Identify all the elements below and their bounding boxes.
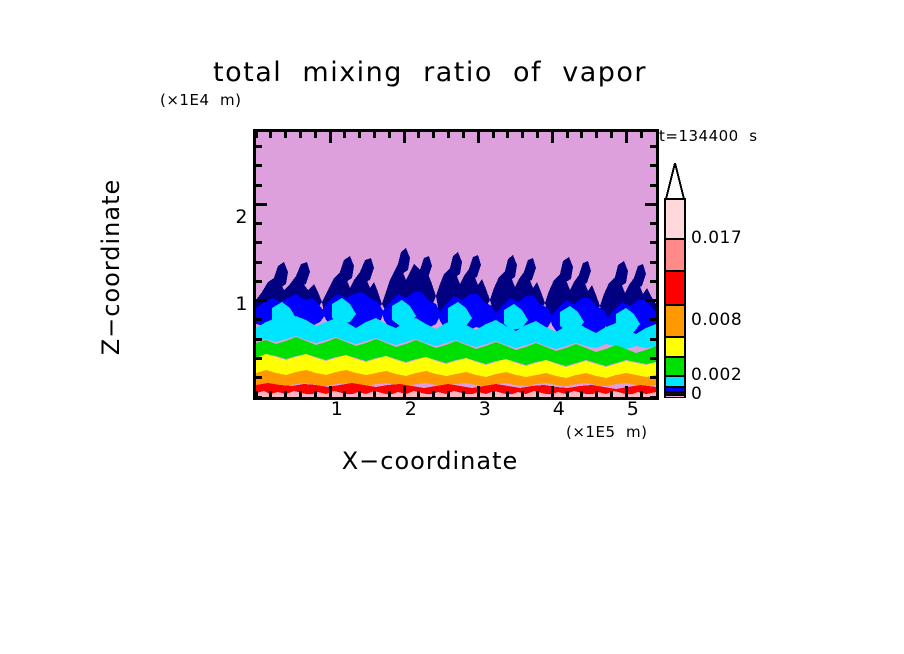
- x-minor-tick: [580, 391, 583, 397]
- y-axis-units-label: (×1E4 m): [160, 91, 242, 109]
- x-minor-tick: [373, 391, 376, 397]
- x-minor-tick: [299, 391, 302, 397]
- y-minor-tick: [650, 222, 656, 225]
- x-minor-tick: [299, 132, 302, 138]
- plot-frame: [253, 129, 659, 400]
- x-minor-tick: [269, 132, 272, 138]
- x-minor-tick: [269, 391, 272, 397]
- x-major-tick: [477, 386, 480, 397]
- x-tick-label: 2: [391, 398, 431, 420]
- y-minor-tick: [256, 222, 262, 225]
- x-major-tick: [403, 132, 406, 143]
- y-axis-title: Z−coordinate: [97, 152, 125, 382]
- y-minor-tick: [650, 164, 656, 167]
- y-minor-tick: [650, 241, 656, 244]
- x-minor-tick: [580, 132, 583, 138]
- y-minor-tick: [256, 164, 262, 167]
- y-tick-label: 2: [218, 206, 248, 228]
- y-major-tick: [645, 203, 656, 206]
- y-minor-tick: [650, 318, 656, 321]
- x-minor-tick: [447, 132, 450, 138]
- x-axis-title: X−coordinate: [0, 447, 904, 475]
- x-major-tick: [551, 132, 554, 143]
- x-major-tick: [625, 132, 628, 143]
- x-major-tick: [477, 132, 480, 143]
- y-minor-tick: [650, 376, 656, 379]
- x-minor-tick: [358, 132, 361, 138]
- x-tick-label: 4: [539, 398, 579, 420]
- y-minor-tick: [650, 280, 656, 283]
- y-minor-tick: [256, 396, 262, 399]
- x-minor-tick: [492, 132, 495, 138]
- x-minor-tick: [417, 391, 420, 397]
- x-minor-tick: [462, 132, 465, 138]
- x-major-tick: [403, 386, 406, 397]
- colorbar-label: 0.008: [691, 310, 742, 330]
- x-minor-tick: [284, 391, 287, 397]
- y-major-tick: [645, 299, 656, 302]
- x-minor-tick: [595, 132, 598, 138]
- y-minor-tick: [650, 145, 656, 148]
- y-minor-tick: [256, 145, 262, 148]
- x-minor-tick: [640, 132, 643, 138]
- page-title: total mixing ratio of vapor: [0, 57, 904, 88]
- y-major-tick: [256, 299, 267, 302]
- x-minor-tick: [432, 132, 435, 138]
- x-minor-tick: [610, 391, 613, 397]
- x-minor-tick: [432, 391, 435, 397]
- x-minor-tick: [388, 391, 391, 397]
- y-minor-tick: [256, 261, 262, 264]
- x-minor-tick: [343, 391, 346, 397]
- x-minor-tick: [595, 391, 598, 397]
- x-minor-tick: [343, 132, 346, 138]
- x-tick-label: 1: [317, 398, 357, 420]
- y-minor-tick: [650, 338, 656, 341]
- x-minor-tick: [506, 132, 509, 138]
- y-minor-tick: [256, 280, 262, 283]
- y-minor-tick: [650, 184, 656, 187]
- x-minor-tick: [506, 391, 509, 397]
- x-tick-label: 3: [465, 398, 505, 420]
- y-minor-tick: [256, 376, 262, 379]
- x-minor-tick: [358, 391, 361, 397]
- x-minor-tick: [521, 391, 524, 397]
- x-minor-tick: [492, 391, 495, 397]
- y-tick-label: 1: [218, 293, 248, 315]
- x-minor-tick: [536, 391, 539, 397]
- contour-field: [256, 132, 656, 397]
- x-major-tick: [329, 132, 332, 143]
- x-minor-tick: [566, 391, 569, 397]
- x-minor-tick: [417, 132, 420, 138]
- y-minor-tick: [256, 184, 262, 187]
- x-minor-tick: [388, 132, 391, 138]
- x-axis-units-label: (×1E5 m): [566, 423, 648, 441]
- x-minor-tick: [373, 132, 376, 138]
- x-minor-tick: [314, 391, 317, 397]
- x-minor-tick: [521, 132, 524, 138]
- x-minor-tick: [462, 391, 465, 397]
- x-major-tick: [551, 386, 554, 397]
- x-minor-tick: [566, 132, 569, 138]
- x-minor-tick: [284, 132, 287, 138]
- y-minor-tick: [650, 357, 656, 360]
- y-minor-tick: [256, 357, 262, 360]
- x-minor-tick: [640, 391, 643, 397]
- x-major-tick: [625, 386, 628, 397]
- y-minor-tick: [650, 261, 656, 264]
- y-major-tick: [256, 203, 267, 206]
- x-tick-label: 5: [613, 398, 653, 420]
- x-minor-tick: [314, 132, 317, 138]
- y-minor-tick: [256, 338, 262, 341]
- colorbar: [663, 163, 687, 398]
- colorbar-label: 0: [691, 384, 702, 404]
- colorbar-label: 0.017: [691, 228, 742, 248]
- x-major-tick: [329, 386, 332, 397]
- x-minor-tick: [255, 132, 258, 138]
- y-minor-tick: [256, 318, 262, 321]
- time-annotation: t=134400 s: [659, 127, 758, 145]
- x-minor-tick: [536, 132, 539, 138]
- colorbar-label: 0.002: [691, 365, 742, 385]
- y-minor-tick: [256, 241, 262, 244]
- x-minor-tick: [610, 132, 613, 138]
- x-minor-tick: [447, 391, 450, 397]
